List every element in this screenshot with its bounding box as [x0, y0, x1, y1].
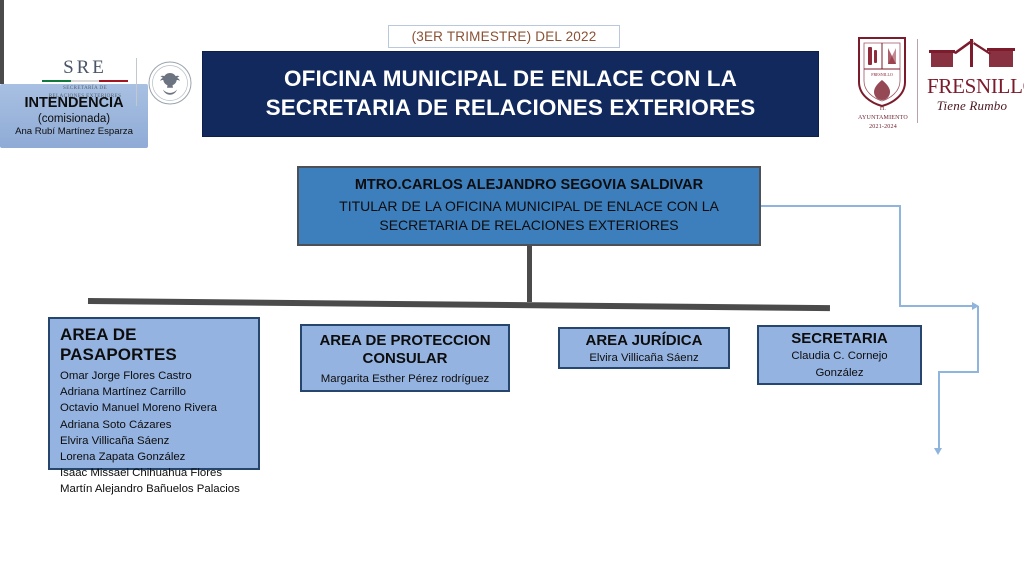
sre-logo: SRE SECRETARÍA DE RELACIONES EXTERIORES [40, 58, 130, 108]
connector-intendencia-segment1 [761, 205, 901, 207]
sre-subtitle-line2: RELACIONES EXTERIORES [40, 93, 130, 101]
director-role-line1: TITULAR DE LA OFICINA MUNICIPAL DE ENLAC… [339, 197, 719, 216]
pasaportes-title: AREA DE PASAPORTES [60, 325, 250, 365]
node-area-pasaportes[interactable]: AREA DE PASAPORTES Omar Jorge Flores Cas… [48, 317, 260, 470]
director-name: MTRO.CARLOS ALEJANDRO SEGOVIA SALDIVAR [355, 177, 703, 194]
pasaportes-member-list: Omar Jorge Flores Castro Adriana Martíne… [60, 368, 240, 498]
secretaria-member-line1: Claudia C. Cornejo [791, 349, 887, 364]
fresnillo-wordmark: FRESNILLO [927, 76, 1017, 97]
director-role-line2: SECRETARIA DE RELACIONES EXTERIORES [379, 216, 678, 235]
connector-intendencia-segment2 [899, 205, 901, 306]
mexican-tricolor-rule [42, 80, 128, 82]
juridica-title: AREA JURÍDICA [586, 332, 703, 349]
connector-horizontal-bus [88, 298, 830, 311]
list-item: Adriana Soto Cázares [60, 417, 240, 433]
org-chart-slide: (3ER TRIMESTRE) DEL 2022 OFICINA MUNICIP… [0, 0, 1024, 576]
logo-divider [136, 58, 137, 106]
connector-drop-consular [0, 19, 4, 42]
page-title: OFICINA MUNICIPAL DE ENLACE CON LA SECRE… [202, 51, 819, 137]
fresnillo-tagline: Tiene Rumbo [927, 98, 1017, 114]
connector-drop-secretaria [0, 65, 4, 84]
node-area-juridica[interactable]: AREA JURÍDICA Elvira Villicaña Sáenz [558, 327, 730, 369]
page-title-line2: SECRETARIA DE RELACIONES EXTERIORES [266, 94, 756, 123]
connector-drop-pasaportes [0, 0, 4, 19]
node-secretaria[interactable]: SECRETARIA Claudia C. Cornejo González [757, 325, 922, 385]
page-title-line1: OFICINA MUNICIPAL DE ENLACE CON LA [284, 65, 737, 94]
svg-text:FRESNILLO: FRESNILLO [871, 72, 893, 77]
consular-member: Margarita Esther Pérez rodríguez [321, 373, 489, 385]
fresnillo-bridge-icon [927, 37, 1017, 71]
juridica-member: Elvira Villicaña Sáenz [589, 352, 698, 364]
connector-intendencia-segment3 [899, 305, 975, 307]
intendencia-member: Ana Rubí Martínez Esparza [15, 126, 133, 137]
fresnillo-coat-of-arms-icon: FRESNILLO [855, 35, 909, 109]
connector-root-vertical [527, 246, 532, 302]
list-item: Martín Alejandro Bañuelos Palacios [60, 481, 240, 497]
list-item: Elvira Villicaña Sáenz [60, 433, 240, 449]
list-item: Isaac Missael Chihuahua Flores [60, 465, 240, 481]
intendencia-status: (comisionada) [38, 113, 110, 125]
period-label: (3ER TRIMESTRE) DEL 2022 [412, 29, 597, 44]
fresnillo-divider [917, 39, 918, 123]
secretaria-member-line2: González [815, 366, 863, 381]
list-item: Lorena Zapata González [60, 449, 240, 465]
fresnillo-logo: FRESNILLO H. AYUNTAMIENTO 2021-2024 [855, 33, 1015, 133]
connector-intendencia-segment5 [938, 371, 979, 373]
list-item: Omar Jorge Flores Castro [60, 368, 240, 384]
fresnillo-name: FRESNILLO [927, 74, 1024, 98]
node-director[interactable]: MTRO.CARLOS ALEJANDRO SEGOVIA SALDIVAR T… [297, 166, 761, 246]
period-banner: (3ER TRIMESTRE) DEL 2022 [388, 25, 620, 48]
sre-acronym: SRE [40, 58, 130, 77]
list-item: Octavio Manuel Moreno Rivera [60, 400, 240, 416]
connector-intendencia-arrow-down [934, 448, 942, 455]
consular-title-line1: AREA DE PROTECCION [319, 332, 490, 350]
secretaria-title: SECRETARIA [791, 330, 887, 347]
ayuntamiento-line1: H. AYUNTAMIENTO [855, 105, 911, 123]
connector-intendencia-segment6 [938, 371, 940, 449]
consular-title-line2: CONSULAR [363, 350, 448, 368]
mexican-eagle-seal-icon [147, 60, 193, 106]
list-item: Adriana Martínez Carrillo [60, 384, 240, 400]
connector-drop-juridica [0, 42, 4, 65]
fresnillo-ayuntamiento: H. AYUNTAMIENTO 2021-2024 [855, 105, 911, 132]
sre-subtitle-line1: SECRETARÍA DE [40, 85, 130, 93]
connector-intendencia-segment4 [977, 306, 979, 372]
ayuntamiento-line2: 2021-2024 [855, 123, 911, 132]
node-area-proteccion-consular[interactable]: AREA DE PROTECCION CONSULAR Margarita Es… [300, 324, 510, 392]
